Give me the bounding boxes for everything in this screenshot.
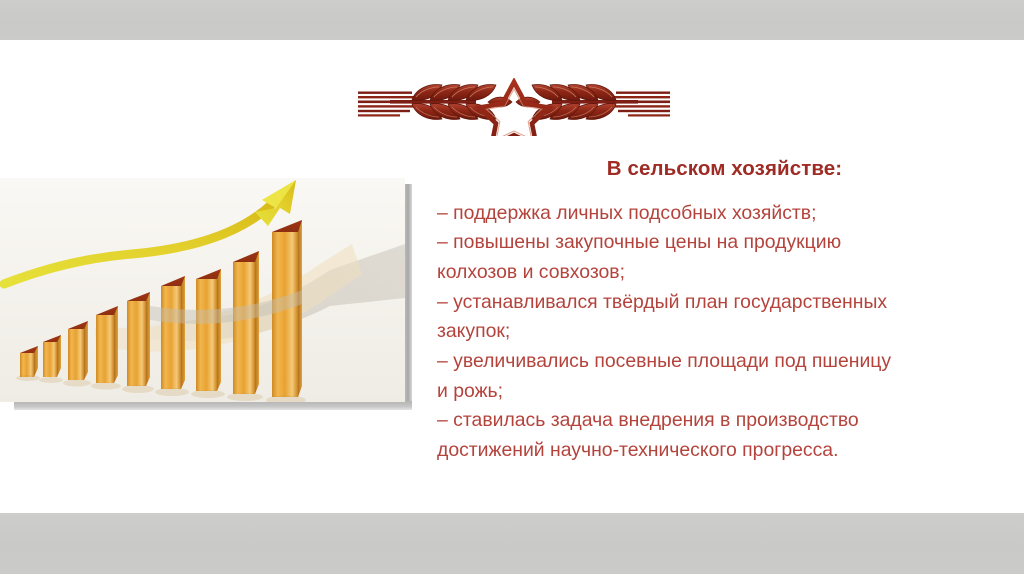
text-content-column: В сельском хозяйстве: – поддержка личных… bbox=[437, 158, 1012, 466]
soviet-star-and-laurel-emblem bbox=[358, 78, 670, 136]
bullet-list: – поддержка личных подсобных хозяйств; –… bbox=[437, 199, 1012, 466]
bar-3 bbox=[68, 321, 88, 380]
picture-body bbox=[0, 178, 405, 402]
bar-8 bbox=[233, 251, 259, 394]
list-item: – повышены закупочные цены на продукцию … bbox=[437, 228, 1012, 287]
picture-right-shadow bbox=[405, 184, 412, 410]
page-title: В сельском хозяйстве: bbox=[437, 158, 1012, 181]
picture-bottom-shadow bbox=[14, 401, 412, 410]
bottom-gray-band bbox=[0, 513, 1024, 574]
bar-4 bbox=[96, 306, 118, 383]
list-item: – поддержка личных подсобных хозяйств; bbox=[437, 199, 1012, 229]
bar-2 bbox=[43, 335, 61, 377]
bar-7 bbox=[196, 269, 221, 391]
list-item: – устанавливался твёрдый план государств… bbox=[437, 288, 1012, 347]
growth-bar-chart-photo bbox=[0, 178, 412, 410]
bar-5 bbox=[127, 292, 150, 386]
list-item: – увеличивались посевные площади под пше… bbox=[437, 347, 1012, 406]
list-item: – ставилась задача внедрения в производс… bbox=[437, 406, 1012, 465]
top-gray-band bbox=[0, 0, 1024, 40]
slide-canvas: В сельском хозяйстве: – поддержка личных… bbox=[0, 0, 1024, 574]
bar-6 bbox=[161, 276, 185, 389]
